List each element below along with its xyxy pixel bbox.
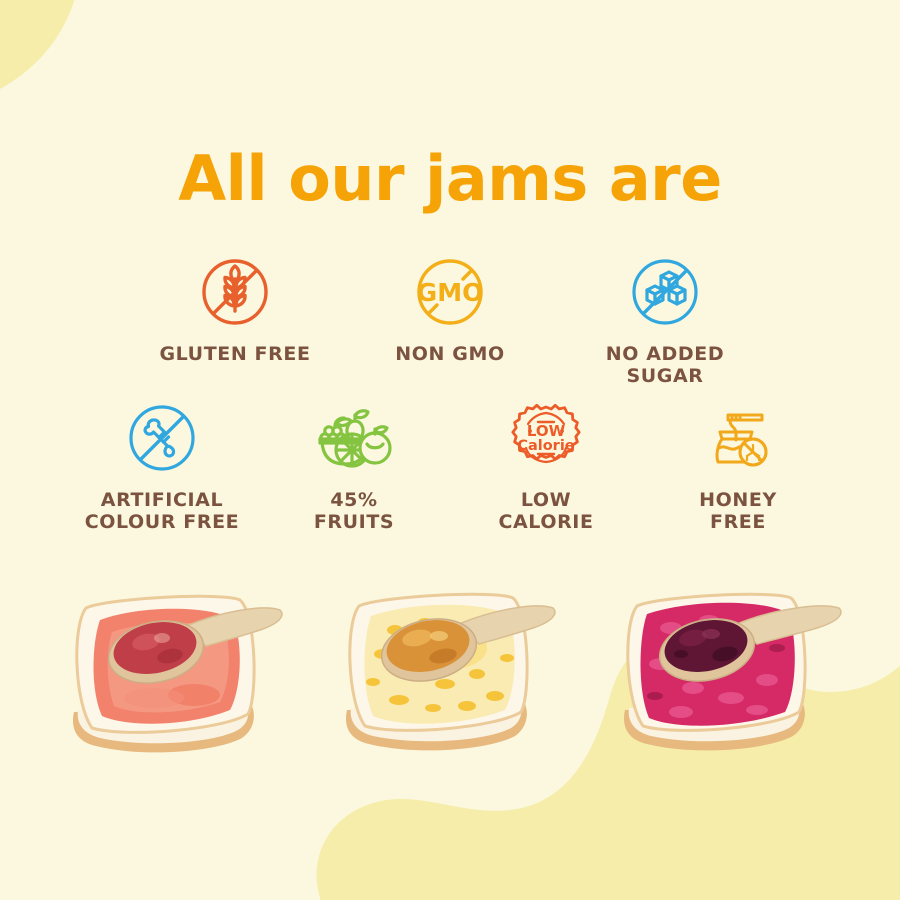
fruit-basket-icon	[312, 396, 396, 480]
gmo-icon-text: GMO	[417, 278, 484, 307]
no-dropper-icon	[122, 396, 202, 480]
no-wheat-icon	[195, 250, 275, 334]
badge-no-added-sugar: NO ADDED SUGAR	[558, 250, 773, 388]
benefit-badges-row-1: GLUTEN FREE GMO NON GMO	[0, 250, 900, 388]
no-sugar-cubes-icon	[625, 250, 705, 334]
toast-with-orange-marmalade	[307, 578, 577, 768]
benefit-badges-row-2: ARTIFICIAL COLOUR FREE	[0, 396, 900, 534]
page-title: All our jams are	[0, 142, 900, 215]
toast-with-strawberry-jam	[34, 580, 304, 770]
badge-label: NON GMO	[395, 343, 504, 365]
low-calorie-seal-icon: LOW Calorie	[506, 396, 586, 480]
badge-45-percent-fruits: 45% FRUITS	[258, 396, 450, 534]
seal-text-bottom: Calorie	[517, 438, 574, 454]
background-blob-top-left	[0, 0, 315, 260]
badge-honey-free: HONEY FREE	[642, 396, 834, 534]
toast-with-mixed-berry-jam	[585, 578, 875, 768]
badge-label: ARTIFICIAL COLOUR FREE	[85, 489, 240, 534]
badge-low-calorie: LOW Calorie LOW CALORIE	[450, 396, 642, 534]
badge-label: HONEY FREE	[699, 489, 777, 534]
badge-label: LOW CALORIE	[498, 489, 593, 534]
badge-label: NO ADDED SUGAR	[606, 343, 724, 388]
badge-gluten-free: GLUTEN FREE	[128, 250, 343, 388]
jam-product-benefits-poster: All our jams are GLUTEN FREE	[0, 0, 900, 900]
badge-non-gmo: GMO NON GMO	[343, 250, 558, 388]
toast-photo-row	[0, 570, 900, 770]
badge-label: 45% FRUITS	[314, 489, 394, 534]
no-gmo-icon: GMO	[410, 250, 490, 334]
badge-label: GLUTEN FREE	[159, 343, 310, 365]
badge-artificial-colour-free: ARTIFICIAL COLOUR FREE	[66, 396, 258, 534]
no-honey-pot-icon	[698, 396, 778, 480]
